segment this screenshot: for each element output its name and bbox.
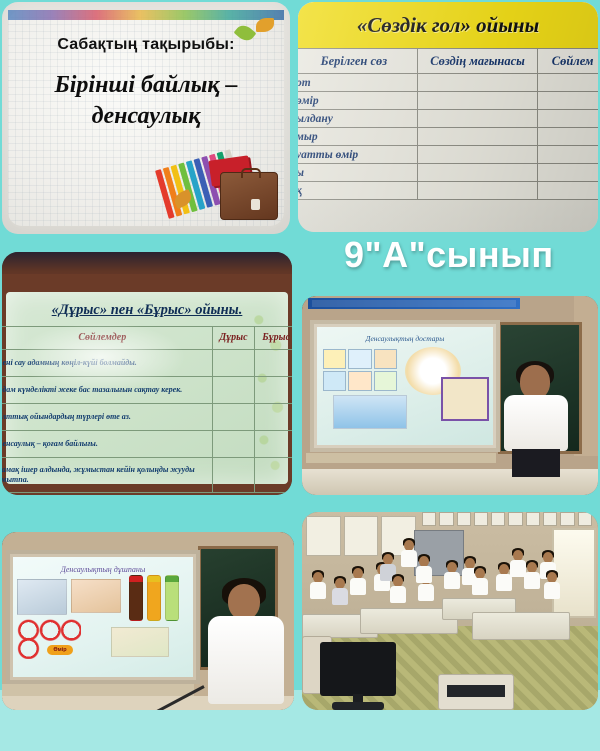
omir-badge: Өмір [47, 645, 73, 655]
screen-ledge [306, 453, 496, 463]
vocab-title: «Сөздік гол» ойыны [357, 13, 539, 38]
briefcase-clasp-icon [251, 199, 260, 210]
photo-collage: Сабақтың тақырыбы: Бірінші байлық – денс… [0, 0, 600, 751]
vocab-sentence [538, 110, 598, 128]
true-false-title: «Дұрыс» пен «Бұрыс» ойыны. [6, 302, 288, 319]
vocab-col-word: Берілген сөз [298, 49, 417, 74]
lesson-topic-slide: Сабақтың тақырыбы: Бірінші байлық – денс… [2, 2, 290, 234]
vocabulary-goal-slide: «Сөздік гол» ойыны Берілген сөз Сөздің м… [298, 2, 598, 232]
vocab-meaning [417, 110, 537, 128]
student [388, 576, 408, 612]
vocab-word: өмір [298, 92, 417, 110]
vocab-col-meaning: Сөздің мағынасы [417, 49, 537, 74]
whiteboard-surface: Сабақтың тақырыбы: Бірінші байлық – денс… [8, 10, 284, 226]
slide-pic-crying [71, 579, 121, 613]
lesson-topic-text: Бірінші байлық – денсаулық [18, 70, 274, 131]
lesson-topic-line1: Бірінші байлық – [54, 72, 237, 98]
vocab-word: уатты өмір [298, 146, 417, 164]
table-row: Денсаулық – қоғам байлығы. [2, 431, 292, 458]
student [542, 572, 562, 606]
slide-pic-bottle-green [165, 575, 179, 621]
vocab-word: ы [298, 164, 417, 182]
tf-false-cell [255, 350, 292, 377]
vocab-word: от [298, 74, 417, 92]
slide-title-enemies: Денсаулықтың дұшпаны [13, 565, 193, 574]
monitor-base [332, 702, 384, 710]
vocab-word: ылдану [298, 110, 417, 128]
tf-true-cell [212, 431, 255, 458]
student [470, 568, 490, 600]
tf-sentence: Ұлттық ойындардың түрлері өте аз. [2, 404, 212, 431]
tf-sentence: Тамақ ішер алдында, жұмыстан кейін қолың… [2, 458, 212, 493]
blouse [208, 616, 284, 704]
head [228, 584, 260, 620]
tf-false-cell [255, 404, 292, 431]
slide-pic-fastfood [111, 627, 169, 657]
computer-monitor [320, 642, 396, 696]
color-strip [8, 10, 284, 20]
teacher-figure [498, 365, 574, 477]
vocab-meaning [417, 146, 537, 164]
tf-false-cell [255, 458, 292, 493]
table-row: Тамақ ішер алдында, жұмыстан кейін қолың… [2, 458, 292, 493]
tf-true-cell [212, 350, 255, 377]
student [330, 578, 350, 612]
vocab-meaning [417, 128, 537, 146]
tf-col-false: Бұрыс [255, 327, 292, 350]
tf-false-cell [255, 377, 292, 404]
slide-title-friends: Денсаулықтың достары [317, 334, 493, 343]
tf-col-true: Дұрыс [212, 327, 255, 350]
teacher-standing [398, 540, 420, 580]
vocab-sentence [538, 146, 598, 164]
table-row: уатты өмір [298, 146, 598, 164]
slide-food-illustration [441, 377, 489, 421]
lesson-topic-line2: денсаулық [92, 103, 201, 129]
student [308, 572, 328, 606]
table-row: ылдану [298, 110, 598, 128]
tf-col-sentences: Сөйлемдер [2, 327, 212, 350]
vocab-meaning [417, 92, 537, 110]
vocab-sentence [538, 74, 598, 92]
vocab-word: қ [298, 182, 417, 200]
vocab-sentence [538, 182, 598, 200]
table-row: ы [298, 164, 598, 182]
slide-pic-bottle-orange [147, 575, 161, 621]
table-header-row: Сөйлемдер Дұрыс Бұрыс [2, 327, 292, 350]
slide-pic-computer [17, 579, 67, 615]
projector-screen: Денсаулықтың дұшпаны Өмір [13, 557, 193, 677]
table-row: от [298, 74, 598, 92]
board-surface: «Дұрыс» пен «Бұрыс» ойыны. Сөйлемдер Дұр… [6, 292, 288, 484]
projector-screen-frame: Денсаулықтың дұшпаны Өмір [6, 550, 200, 684]
slide-pic-bottle-cola [129, 575, 143, 621]
skirt [512, 449, 560, 477]
slide-thumbnail-grid [323, 349, 397, 391]
vocab-title-bar: «Сөздік гол» ойыны [298, 2, 598, 48]
table-header-row: Берілген сөз Сөздің мағынасы Сөйлем [298, 49, 598, 74]
tf-sentence: Денсаулық – қоғам байлығы. [2, 431, 212, 458]
student [442, 562, 462, 594]
vocab-meaning [417, 182, 537, 200]
tf-sentence: Адам күнделікті жеке бас тазалығын сақта… [2, 377, 212, 404]
photo-classroom-students [302, 512, 598, 710]
tf-true-cell [212, 458, 255, 493]
printer [438, 674, 514, 710]
student-desk [472, 612, 570, 640]
projector-screen-frame: Денсаулықтың достары [310, 320, 500, 452]
wall-banner [308, 298, 520, 309]
table-row: Дені сау адамның көңіл-күйі болмайды. [2, 350, 292, 377]
vocab-sentence [538, 128, 598, 146]
true-false-table: Сөйлемдер Дұрыс Бұрыс Дені сау адамның к… [2, 326, 292, 493]
vocab-word: мыр [298, 128, 417, 146]
true-false-game-slide: «Дұрыс» пен «Бұрыс» ойыны. Сөйлемдер Дұр… [2, 252, 292, 495]
tf-false-cell [255, 431, 292, 458]
blouse [504, 395, 568, 451]
class-label: 9"A"сынып [344, 231, 594, 279]
teacher-figure [202, 578, 288, 704]
head [520, 365, 550, 399]
table-row: Адам күнделікті жеке бас тазалығын сақта… [2, 377, 292, 404]
briefcase-icon [220, 172, 278, 220]
table-row: өмір [298, 92, 598, 110]
photo-teacher-at-screen: Денсаулықтың достары [302, 296, 598, 495]
tf-sentence: Дені сау адамның көңіл-күйі болмайды. [2, 350, 212, 377]
vocab-meaning [417, 74, 537, 92]
table-row: мыр [298, 128, 598, 146]
vocab-col-sentence: Сөйлем [538, 49, 598, 74]
vocab-sentence [538, 92, 598, 110]
tf-true-cell [212, 377, 255, 404]
vocab-meaning [417, 164, 537, 182]
vocab-sentence [538, 164, 598, 182]
student [348, 568, 368, 602]
table-row: Ұлттық ойындардың түрлері өте аз. [2, 404, 292, 431]
table-row: қ [298, 182, 598, 200]
projector-screen: Денсаулықтың достары [317, 327, 493, 445]
slide-pool-illustration [333, 395, 407, 429]
photo-teacher-pointing: Денсаулықтың дұшпаны Өмір [2, 532, 294, 710]
tf-true-cell [212, 404, 255, 431]
vocab-table: Берілген сөз Сөздің мағынасы Сөйлем от ө… [298, 48, 598, 200]
wall-poster-row [422, 512, 592, 526]
